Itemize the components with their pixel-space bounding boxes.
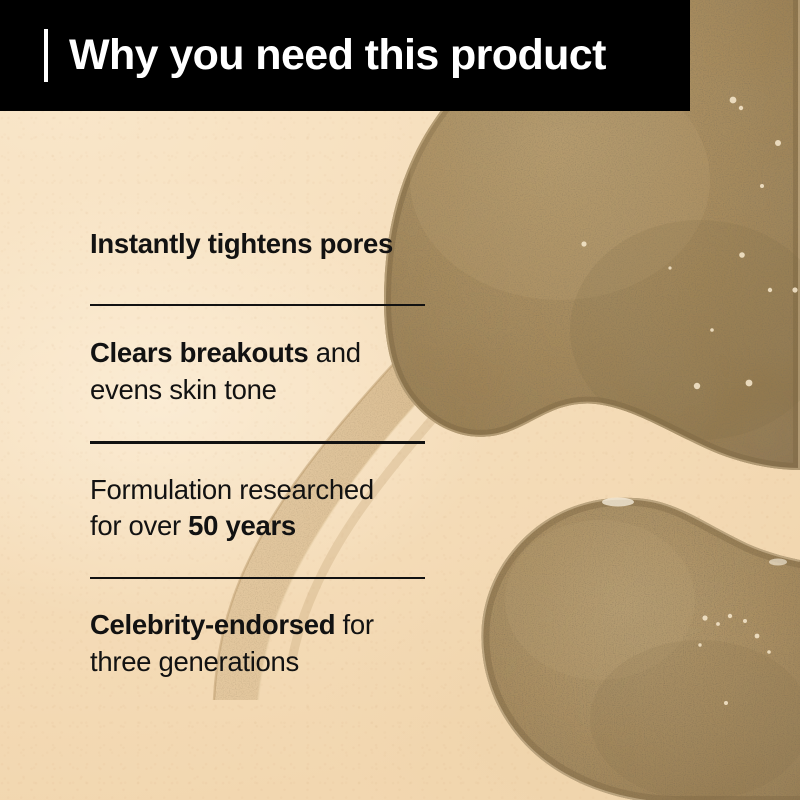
benefit-2-line-2-seg-1: evens skin tone bbox=[90, 374, 277, 405]
benefit-text-4: Celebrity-endorsed for three generations bbox=[90, 607, 490, 680]
promo-graphic: Why you need this product Instantly tigh… bbox=[0, 0, 800, 800]
benefit-item-4: Celebrity-endorsed for three generations bbox=[90, 579, 490, 680]
benefit-3-line-2-seg-1: for over bbox=[90, 510, 188, 541]
benefit-4-line-1-seg-1: Celebrity-endorsed bbox=[90, 609, 335, 640]
benefit-3-line-1-seg-1: Formulation researched bbox=[90, 474, 374, 505]
header-banner: Why you need this product bbox=[0, 0, 690, 111]
benefit-2-line-1-seg-1: Clears breakouts bbox=[90, 337, 308, 368]
benefit-item-2: Clears breakouts and evens skin tone bbox=[90, 306, 490, 408]
benefit-4-line-1-seg-2: for bbox=[335, 609, 374, 640]
benefit-2-line-1-seg-2: and bbox=[308, 337, 360, 368]
benefit-3-line-2-seg-2: 50 years bbox=[188, 510, 296, 541]
benefit-text-2: Clears breakouts and evens skin tone bbox=[90, 335, 490, 408]
gel-blob-lower bbox=[470, 480, 800, 800]
benefit-1-line-1-seg-1: Instantly tightens pores bbox=[90, 228, 393, 259]
benefit-text-3: Formulation researched for over 50 years bbox=[90, 472, 490, 545]
accent-bar-icon bbox=[44, 29, 48, 82]
benefit-item-1: Instantly tightens pores bbox=[90, 214, 490, 263]
page-title: Why you need this product bbox=[69, 34, 606, 77]
benefit-4-line-2-seg-1: three generations bbox=[90, 646, 299, 677]
benefit-text-1: Instantly tightens pores bbox=[90, 226, 490, 263]
benefit-item-3: Formulation researched for over 50 years bbox=[90, 444, 490, 545]
benefits-list: Instantly tightens pores Clears breakout… bbox=[90, 214, 490, 680]
